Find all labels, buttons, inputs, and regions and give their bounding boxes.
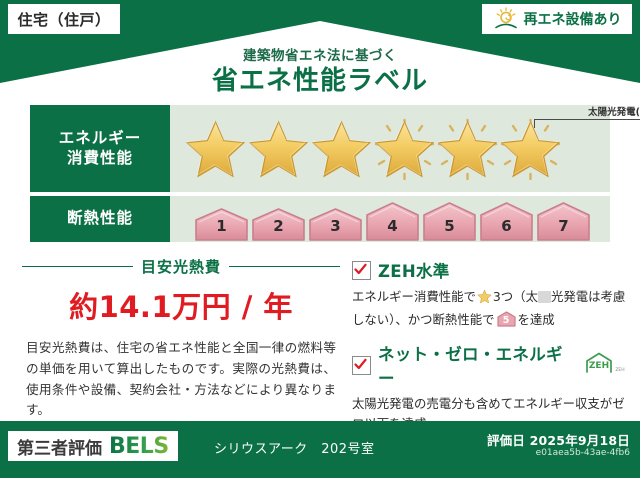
redacted-text	[538, 291, 551, 303]
performance-panel: エネルギー 消費性能 太陽光発電(自家消費)分	[30, 105, 610, 250]
utility-cost-note: 目安光熱費は、住宅の省エネ性能と全国一律の燃料等の単価を用いて算出したものです。…	[22, 338, 340, 421]
insulation-performance-key: 断熱性能	[30, 196, 170, 242]
renewable-equipment-badge: 再エネ設備あり	[482, 4, 632, 34]
insulation-level-number: 2	[251, 217, 306, 235]
criteria-item-1: ZEH水準 エネルギー消費性能で 3つ（太光発電は考慮しない）、かつ断熱性能で …	[352, 258, 628, 330]
insulation-level-2: 2	[251, 208, 306, 242]
criteria-heading: ネット・ゼロ・エネルギー ZEH ZEH	[352, 341, 628, 389]
energy-performance-label: 住宅（住戸） 再エネ設備あり 建築物省エネ法に基づく 省エネ性能ラベル	[0, 0, 640, 478]
heading-rule-left	[22, 266, 133, 267]
criteria-title: ネット・ゼロ・エネルギー	[378, 341, 573, 389]
insulation-level-number: 5	[422, 217, 477, 235]
star-icon-solar	[499, 118, 562, 180]
label-footer: 第三者評価 BELS シリウスアーク 202号室 評価日 2025年9月18日 …	[0, 421, 640, 478]
utility-cost-block: 目安光熱費 約14.1万円 / 年 目安光熱費は、住宅の省エネ性能と全国一律の燃…	[22, 256, 340, 421]
energy-star-rating	[184, 107, 562, 190]
criteria-description: エネルギー消費性能で 3つ（太光発電は考慮しない）、かつ断熱性能で 5を達成	[352, 287, 628, 330]
insulation-level-number: 1	[194, 217, 249, 235]
utility-cost-heading: 目安光熱費	[22, 256, 340, 277]
energy-performance-value: 太陽光発電(自家消費)分	[170, 105, 610, 192]
check-icon	[352, 261, 371, 280]
insulation-level-4: 4	[365, 202, 420, 242]
insulation-level-3: 3	[308, 208, 363, 242]
star-icon-filled	[310, 118, 373, 180]
bels-logo-text: BELS	[109, 434, 169, 459]
sun-solar-icon	[493, 7, 519, 31]
page-title: 省エネ性能ラベル	[0, 60, 640, 97]
insulation-level-5: 5	[422, 202, 477, 242]
star-icon	[477, 289, 492, 310]
energy-key-line1: エネルギー	[59, 129, 142, 148]
third-party-label: 第三者評価	[17, 434, 102, 459]
building-name: シリウスアーク 202号室	[214, 438, 375, 457]
svg-text:ZEH: ZEH	[615, 367, 624, 373]
zeh-house-logo: ZEH ZEH	[584, 352, 628, 378]
insulation-key-label: 断熱性能	[67, 209, 133, 228]
evaluation-id: e01aea5b-43ae-4fb6	[536, 448, 630, 458]
insulation-level-number: 7	[536, 217, 591, 235]
energy-performance-key: エネルギー 消費性能	[30, 105, 170, 192]
criteria-list: ZEH水準 エネルギー消費性能で 3つ（太光発電は考慮しない）、かつ断熱性能で …	[352, 258, 628, 445]
insulation-level-1: 1	[194, 208, 249, 242]
utility-cost-value: 約14.1万円 / 年	[22, 284, 340, 326]
insulation-level-number: 4	[365, 217, 420, 235]
check-icon	[352, 356, 371, 375]
insulation-performance-value: 1 2 3 4	[170, 196, 610, 242]
star-icon-solar	[373, 118, 436, 180]
energy-performance-row: エネルギー 消費性能 太陽光発電(自家消費)分	[30, 105, 610, 192]
insulation-level-6: 6	[479, 202, 534, 242]
criteria-title: ZEH水準	[378, 258, 450, 282]
evaluation-date: 評価日 2025年9月18日	[487, 430, 630, 449]
insulation-level-7: 7	[536, 202, 591, 242]
star-icon-filled	[184, 118, 247, 180]
energy-key-line2: 消費性能	[67, 149, 133, 168]
insulation-level-number: 3	[308, 217, 363, 235]
insulation-badge-icon: 5	[497, 311, 516, 327]
house-type-badge-label: 住宅（住戸）	[17, 9, 110, 30]
utility-cost-label: 目安光熱費	[141, 256, 221, 277]
insulation-level-scale: 1 2 3 4	[194, 196, 591, 242]
heading-rule-right	[229, 266, 340, 267]
star-icon-solar	[436, 118, 499, 180]
criteria-heading: ZEH水準	[352, 258, 628, 282]
house-type-badge: 住宅（住戸）	[8, 4, 120, 34]
renewable-badge-label: 再エネ設備あり	[524, 9, 622, 29]
insulation-level-number: 6	[479, 217, 534, 235]
insulation-performance-row: 断熱性能 1 2	[30, 196, 610, 242]
svg-text:ZEH: ZEH	[589, 361, 609, 371]
bels-badge: 第三者評価 BELS	[8, 431, 178, 461]
star-icon-filled	[247, 118, 310, 180]
